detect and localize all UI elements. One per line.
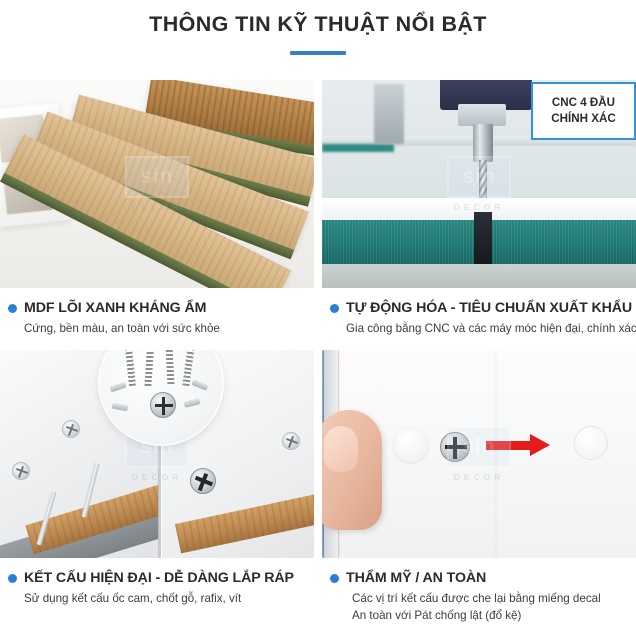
caption-heading-row: TỰ ĐỘNG HÓA - TIÊU CHUẨN XUẤT KHẨU	[330, 300, 636, 316]
feature-cell-cnc: sin DECOR CNC 4 ĐẦU CHÍNH XÁC TỰ ĐỘNG HÓ…	[322, 80, 636, 350]
feature-cell-decal: sin DECOR THẨM MỸ / AN TOÀN Các vị trí k…	[322, 350, 636, 620]
feature-cell-mdf: sin DECOR MDF LÕI XANH KHÁNG ẨM Cứng, bề…	[0, 80, 314, 350]
magnifier-stem	[158, 442, 161, 558]
arrow-shaft	[486, 441, 532, 450]
inset-cam-lock	[150, 392, 176, 418]
inset-screw-3	[164, 350, 174, 386]
inset-screw-2	[144, 350, 155, 388]
feature-title: KẾT CẤU HIỆN ĐẠI - DỄ DÀNG LẮP RÁP	[24, 570, 294, 586]
decal-sticker-applied	[574, 426, 608, 460]
decal-cover-photo: sin DECOR	[322, 350, 636, 558]
inset-fitting-1	[109, 382, 126, 393]
feature-title: MDF LÕI XANH KHÁNG ẨM	[24, 300, 206, 316]
cnc-badge: CNC 4 ĐẦU CHÍNH XÁC	[531, 82, 636, 140]
screw-head-3	[282, 432, 300, 450]
feature-cell-hardware: sin DECOR	[0, 350, 314, 620]
machine-table	[322, 264, 636, 288]
header: THÔNG TIN KỸ THUẬT NỔI BẬT	[0, 0, 636, 55]
decal-sticker-held	[394, 428, 428, 462]
feature-description-line-1: Các vị trí kết cấu được che lại bằng miế…	[352, 591, 636, 607]
bullet-icon	[8, 304, 17, 313]
caption-heading-row: KẾT CẤU HIỆN ĐẠI - DỄ DÀNG LẮP RÁP	[8, 570, 314, 586]
feature-title: THẨM MỸ / AN TOÀN	[346, 570, 486, 586]
feature-caption-decal: THẨM MỸ / AN TOÀN Các vị trí kết cấu đượ…	[322, 558, 636, 620]
feature-caption-cnc: TỰ ĐỘNG HÓA - TIÊU CHUẨN XUẤT KHẨU Gia c…	[322, 288, 636, 350]
machine-post	[374, 84, 404, 144]
red-arrow-icon	[486, 434, 552, 456]
hardware-screws-photo: sin DECOR	[0, 350, 314, 558]
feature-caption-mdf: MDF LÕI XANH KHÁNG ẨM Cứng, bền màu, an …	[0, 288, 314, 350]
feature-description-line-2: An toàn với Pát chống lật (đổ kệ)	[352, 608, 636, 624]
inset-fitting-4	[191, 379, 208, 391]
page-title: THÔNG TIN KỸ THUẬT NỔI BẬT	[0, 13, 636, 37]
feature-grid: sin DECOR MDF LÕI XANH KHÁNG ẨM Cứng, bề…	[0, 80, 636, 620]
bullet-icon	[330, 574, 339, 583]
bullet-icon	[8, 574, 17, 583]
cam-lock-screw	[190, 468, 216, 494]
inset-fitting-3	[184, 398, 201, 408]
feature-caption-hardware: KẾT CẤU HIỆN ĐẠI - DỄ DÀNG LẮP RÁP Sử dụ…	[0, 558, 314, 620]
feature-description: Sử dụng kết cấu ốc cam, chốt gỗ, rafix, …	[24, 591, 314, 607]
feature-description: Gia công bằng CNC và các máy móc hiện đạ…	[346, 321, 636, 337]
mdf-boards-photo: sin DECOR	[0, 80, 314, 288]
title-divider	[290, 51, 346, 55]
inset-screw-1	[123, 350, 136, 386]
before-scene	[322, 350, 494, 558]
arrow-head	[530, 434, 550, 456]
cnc-machine-photo: sin DECOR CNC 4 ĐẦU CHÍNH XÁC	[322, 80, 636, 288]
infographic-page: THÔNG TIN KỸ THUẬT NỔI BẬT	[0, 0, 636, 628]
screw-head-2	[12, 462, 30, 480]
caption-heading-row: MDF LÕI XANH KHÁNG ẨM	[8, 300, 314, 316]
cnc-collet	[473, 124, 493, 162]
feature-description: Cứng, bền màu, an toàn với sức khỏe	[24, 321, 314, 337]
cnc-badge-line-2: CHÍNH XÁC	[551, 111, 615, 127]
exposed-screw-head	[440, 432, 470, 462]
background-green-slab	[322, 144, 394, 152]
thumb-finger	[322, 410, 382, 530]
drilled-groove	[474, 212, 492, 264]
screw-head-1	[62, 420, 80, 438]
fingernail	[324, 426, 358, 472]
inset-fitting-2	[112, 403, 129, 412]
bullet-icon	[330, 304, 339, 313]
caption-heading-row: THẨM MỸ / AN TOÀN	[330, 570, 636, 586]
cnc-badge-line-1: CNC 4 ĐẦU	[552, 95, 615, 111]
feature-title: TỰ ĐỘNG HÓA - TIÊU CHUẨN XUẤT KHẨU	[346, 300, 632, 316]
cnc-spindle-head	[458, 104, 506, 126]
